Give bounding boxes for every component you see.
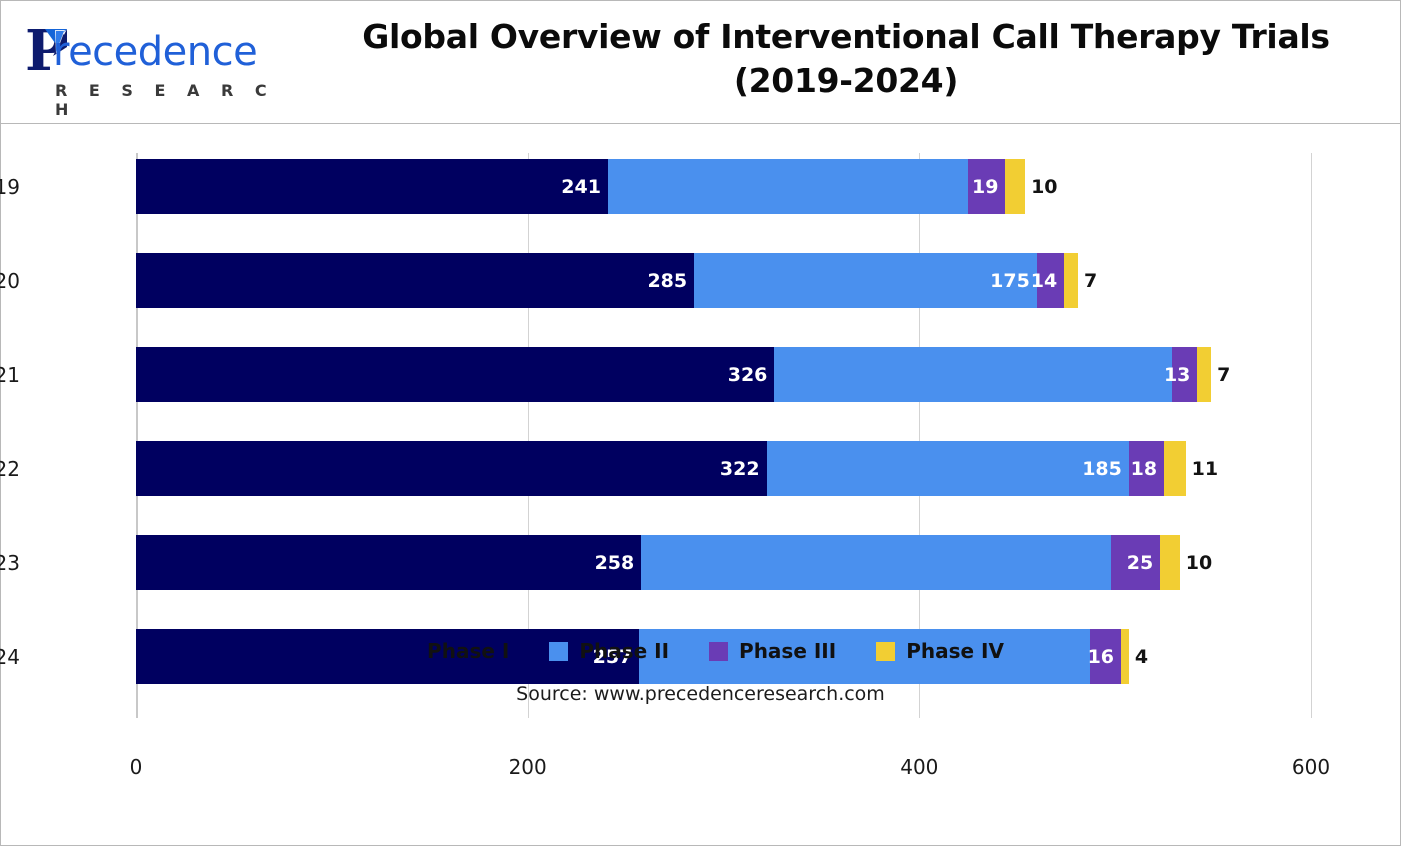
y-axis-tick-label: 2019: [0, 175, 20, 199]
bar-segment-phase-iii[interactable]: 18: [1129, 441, 1164, 496]
y-axis-tick-label: 2023: [0, 551, 20, 575]
y-axis-tick-label: 2020: [0, 269, 20, 293]
bar-segment-phase-iii[interactable]: 13: [1172, 347, 1197, 402]
legend-item-phase-i[interactable]: Phase I: [397, 639, 509, 663]
bar-segment-phase-ii[interactable]: [641, 535, 1111, 590]
chart-title-line1: Global Overview of Interventional Call T…: [362, 17, 1330, 56]
legend-swatch: [709, 642, 728, 661]
bar-segment-phase-iii[interactable]: 25: [1111, 535, 1160, 590]
legend-item-phase-iii[interactable]: Phase III: [709, 639, 836, 663]
legend-item-phase-iv[interactable]: Phase IV: [876, 639, 1004, 663]
legend-label: Phase I: [427, 639, 509, 663]
bar-segment-phase-iv[interactable]: 10: [1005, 159, 1025, 214]
logo-subtitle: R E S E A R C H: [55, 81, 293, 119]
bar-segment-phase-i[interactable]: 285: [136, 253, 694, 308]
bar-value-label: 19: [972, 176, 1005, 198]
x-axis-tick-label: 200: [509, 755, 547, 779]
x-axis-tick-label: 0: [130, 755, 143, 779]
bar-value-label: 10: [1180, 552, 1212, 574]
bar-segment-phase-i[interactable]: 241: [136, 159, 608, 214]
bar-value-label: 18: [1131, 458, 1164, 480]
legend-item-phase-ii[interactable]: Phase II: [549, 639, 669, 663]
x-axis-tick-label: 400: [900, 755, 938, 779]
plot-area: 0200400600201924119102020285175147202132…: [136, 153, 1311, 718]
bar-value-label: 285: [647, 270, 694, 292]
bar-row: 20232582510: [136, 535, 1311, 590]
bar-row: 20192411910: [136, 159, 1311, 214]
stacked-bar[interactable]: 326137: [136, 347, 1211, 402]
stacked-bar[interactable]: 2411910: [136, 159, 1025, 214]
bar-value-label: 258: [595, 552, 642, 574]
bar-segment-phase-ii[interactable]: 185: [767, 441, 1129, 496]
bar-value-label: 13: [1164, 364, 1197, 386]
bar-value-label: 185: [1082, 458, 1129, 480]
legend-label: Phase II: [579, 639, 669, 663]
precedence-research-logo: P recedence R E S E A R C H: [23, 21, 293, 107]
x-axis-tick-label: 600: [1292, 755, 1330, 779]
chart-page: P recedence R E S E A R C H Global Overv…: [0, 0, 1401, 846]
chart-legend: Phase IPhase IIPhase IIIPhase IV: [1, 639, 1400, 663]
chart-title-line2: (2019-2024): [734, 61, 958, 100]
bar-segment-phase-iv[interactable]: 7: [1197, 347, 1211, 402]
stacked-bar[interactable]: 2582510: [136, 535, 1180, 590]
bar-segment-phase-ii[interactable]: [774, 347, 1172, 402]
bar-segment-phase-iv[interactable]: 10: [1160, 535, 1180, 590]
bar-segment-phase-ii[interactable]: 175: [694, 253, 1037, 308]
bar-segment-phase-i[interactable]: 258: [136, 535, 641, 590]
legend-swatch: [876, 642, 895, 661]
bar-value-label: 241: [561, 176, 608, 198]
legend-label: Phase IV: [906, 639, 1004, 663]
bar-value-label: 25: [1127, 552, 1160, 574]
bar-segment-phase-iii[interactable]: 14: [1037, 253, 1064, 308]
bar-segment-phase-ii[interactable]: [608, 159, 968, 214]
stacked-bar[interactable]: 3221851811: [136, 441, 1186, 496]
source-note: Source: www.precedenceresearch.com: [1, 683, 1400, 705]
bar-row: 2021326137: [136, 347, 1311, 402]
y-axis-tick-label: 2021: [0, 363, 20, 387]
bar-row: 2020285175147: [136, 253, 1311, 308]
y-axis-tick-label: 2022: [0, 457, 20, 481]
legend-swatch: [549, 642, 568, 661]
bar-segment-phase-iii[interactable]: 19: [968, 159, 1005, 214]
chart-body: 0200400600201924119102020285175147202132…: [1, 125, 1400, 845]
bar-segment-phase-iv[interactable]: 11: [1164, 441, 1186, 496]
page-header: P recedence R E S E A R C H Global Overv…: [1, 1, 1400, 124]
logo-wordmark: recedence: [53, 29, 257, 75]
bar-segment-phase-i[interactable]: 322: [136, 441, 767, 496]
bar-value-label: 326: [728, 364, 775, 386]
bar-value-label: 322: [720, 458, 767, 480]
legend-swatch: [397, 642, 416, 661]
bar-value-label: 14: [1031, 270, 1064, 292]
bar-value-label: 10: [1025, 176, 1057, 198]
bar-segment-phase-iv[interactable]: 7: [1064, 253, 1078, 308]
chart-title: Global Overview of Interventional Call T…: [331, 15, 1361, 102]
bar-value-label: 7: [1078, 270, 1097, 292]
gridline: [1311, 153, 1312, 718]
bar-value-label: 7: [1211, 364, 1230, 386]
legend-label: Phase III: [739, 639, 836, 663]
stacked-bar[interactable]: 285175147: [136, 253, 1078, 308]
bar-segment-phase-i[interactable]: 326: [136, 347, 774, 402]
bar-value-label: 11: [1186, 458, 1218, 480]
bar-row: 20223221851811: [136, 441, 1311, 496]
